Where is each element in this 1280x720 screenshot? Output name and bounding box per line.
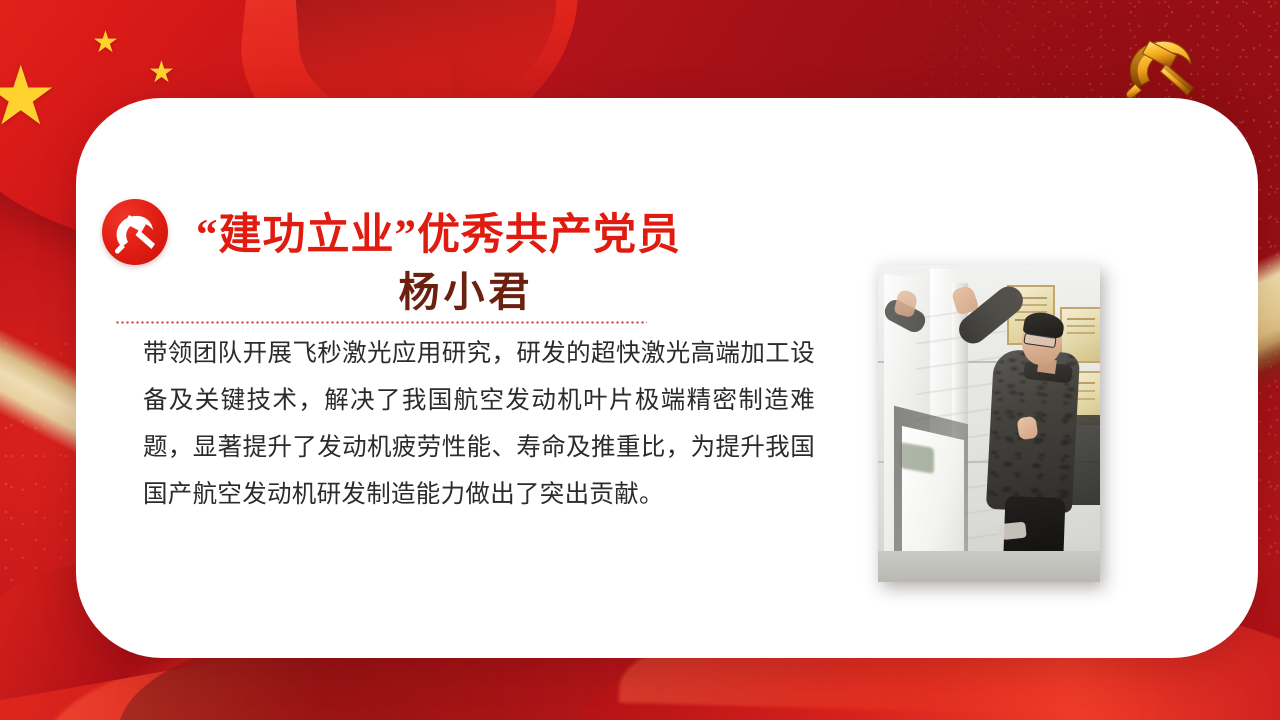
flag-star-small-2: ★ — [148, 58, 175, 88]
slide-root: ★ ★ ★ ★ ★ — [0, 0, 1280, 720]
flag-star-large: ★ — [0, 56, 58, 138]
portrait-photo — [878, 265, 1100, 582]
description-text: 带领团队开展飞秒激光应用研究，研发的超快激光高端加工设备及关键技术，解决了我国航… — [143, 330, 815, 518]
page-title: “建功立业”优秀共产党员 — [196, 200, 896, 262]
person-name: 杨小君 — [196, 258, 736, 318]
flag-star-small-1: ★ — [92, 28, 119, 58]
photo-person-shoe — [997, 522, 1027, 541]
photo-person-hand-lower — [1017, 416, 1039, 440]
dotted-divider — [115, 321, 647, 324]
hammer-and-sickle-icon — [1110, 28, 1218, 106]
party-emblem-badge — [102, 199, 168, 265]
photo-floor — [878, 551, 1100, 582]
